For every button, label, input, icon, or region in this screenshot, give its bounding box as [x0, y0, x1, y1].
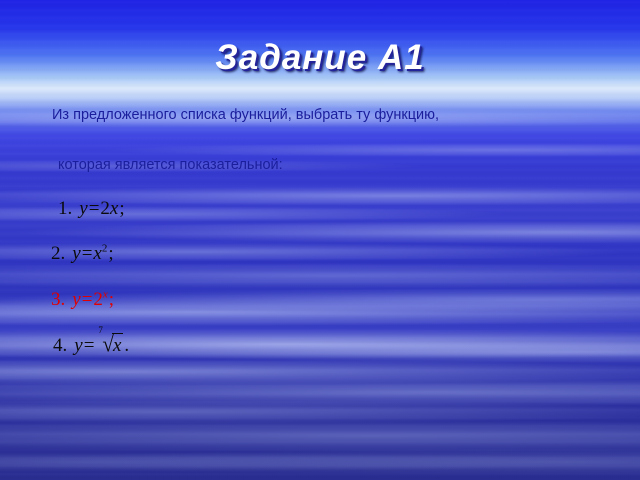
option-expression-4: y=7√x. [74, 335, 130, 356]
option-number-4: 4. [53, 335, 67, 356]
option-expression-1: y=2x; [79, 198, 125, 219]
option-terminator-4: . [123, 335, 130, 356]
option-terminator-3: ; [108, 289, 115, 310]
formula-list: 1.y=2x; 2.y=x2; 3.y=2x; 4.y=7√x. [0, 0, 640, 480]
option-operator-2: = [81, 243, 94, 264]
option-terminator-2: ; [107, 243, 114, 264]
slide-canvas: Задание А1 Из предложенного списка функц… [0, 0, 640, 480]
option-operator-3: = [81, 289, 94, 310]
option-lhs-1: y [79, 198, 87, 219]
option-lhs-4: y [74, 335, 82, 356]
option-terminator-1: ; [118, 198, 125, 219]
formula-option-2[interactable]: 2.y=x2; [51, 243, 115, 265]
option-operator-4: = [83, 335, 96, 356]
formula-option-3[interactable]: 3.y=2x; [51, 289, 115, 311]
option-number-2: 2. [51, 243, 65, 264]
option-number-1: 1. [58, 198, 72, 219]
radical-sign-4: √ [97, 331, 114, 358]
nth-root-icon: 7√x [97, 332, 123, 357]
formula-option-4[interactable]: 4.y=7√x. [53, 332, 130, 357]
option-variable-2: x [93, 243, 101, 264]
option-coefficient-1: 2 [100, 198, 110, 219]
option-coefficient-3: 2 [93, 289, 103, 310]
option-expression-2: y=x2; [72, 243, 114, 264]
option-lhs-2: y [72, 243, 80, 264]
formula-option-1[interactable]: 1.y=2x; [58, 198, 126, 220]
option-operator-1: = [88, 198, 101, 219]
option-lhs-3: y [72, 289, 80, 310]
option-expression-3: y=2x; [72, 289, 115, 310]
option-number-3: 3. [51, 289, 65, 310]
